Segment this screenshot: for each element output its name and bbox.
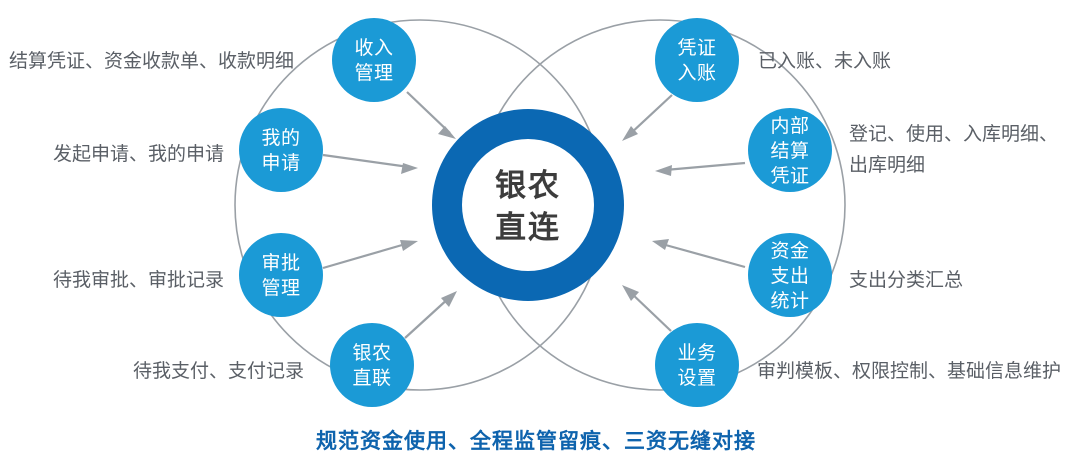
arrow-fund-expenditure <box>652 239 745 267</box>
node-circle-voucher-booking[interactable] <box>655 18 739 102</box>
arrow-head-approval <box>400 240 418 251</box>
node-fund-expenditure-statistics[interactable]: 资金 支出 统计 <box>748 233 832 317</box>
node-label-fund-expenditure-line2: 支出 <box>770 265 809 287</box>
center-hub: 银农 直连 <box>432 109 624 301</box>
center-title-line2: 直连 <box>495 210 561 245</box>
node-label-bank-village-direct-line1: 银农 <box>352 342 391 364</box>
diagram-canvas: 银农 直连 <box>0 0 1072 471</box>
description-internal-settlement-line1: 登记、使用、入库明细、 <box>849 123 1058 145</box>
node-circle-income-management[interactable] <box>332 18 416 102</box>
arrow-head-internal-settlement <box>655 165 672 176</box>
arrow-voucher-booking <box>622 95 672 141</box>
node-business-settings[interactable]: 业务 设置 <box>655 323 739 407</box>
diagram-caption: 规范资金使用、全程监管留痕、三资无缝对接 <box>316 429 756 453</box>
node-approval-management[interactable]: 审批 管理 <box>239 233 323 317</box>
node-label-voucher-booking-line1: 凭证 <box>677 37 716 59</box>
arrow-my-application <box>323 155 418 174</box>
description-my-application: 发起申请、我的申请 <box>53 143 224 165</box>
arrow-head-income <box>438 126 456 139</box>
node-label-approval-management-line2: 管理 <box>261 277 300 299</box>
node-label-income-management-line2: 管理 <box>354 62 393 84</box>
node-label-fund-expenditure-line3: 统计 <box>770 290 809 312</box>
node-voucher-booking[interactable]: 凭证 入账 <box>655 18 739 102</box>
node-internal-settlement-voucher[interactable]: 内部 结算 凭证 <box>748 108 832 192</box>
node-circle-bank-village-direct[interactable] <box>330 323 414 407</box>
description-income-management: 结算凭证、资金收款单、收款明细 <box>9 50 294 72</box>
node-label-bank-village-direct-line2: 直联 <box>352 367 391 389</box>
node-circle-approval-management[interactable] <box>239 233 323 317</box>
node-label-business-settings-line1: 业务 <box>677 342 716 364</box>
arrow-head-bank-direct <box>441 291 457 307</box>
node-label-voucher-booking-line2: 入账 <box>677 62 716 84</box>
diagram-root: 银农 直连 <box>0 0 1072 471</box>
node-label-fund-expenditure-line1: 资金 <box>770 240 809 262</box>
node-income-management[interactable]: 收入 管理 <box>332 18 416 102</box>
arrow-internal-settlement <box>655 163 745 176</box>
node-circle-business-settings[interactable] <box>655 323 739 407</box>
description-approval-management: 待我审批、审批记录 <box>53 269 224 291</box>
arrow-head-fund-expenditure <box>652 239 669 250</box>
description-fund-expenditure: 支出分类汇总 <box>849 269 963 291</box>
description-voucher-booking: 已入账、未入账 <box>758 50 891 72</box>
arrow-bank-village-direct <box>405 291 457 338</box>
node-label-internal-settlement-line1: 内部 <box>770 115 809 137</box>
node-label-income-management-line1: 收入 <box>354 37 393 59</box>
center-ring-inner <box>462 139 594 271</box>
node-label-internal-settlement-line2: 结算 <box>770 140 809 162</box>
node-label-approval-management-line1: 审批 <box>261 252 300 274</box>
arrow-business-settings <box>622 285 671 331</box>
arrow-income-management <box>407 92 456 139</box>
node-circle-my-application[interactable] <box>239 108 323 192</box>
description-internal-settlement-line2: 出库明细 <box>849 154 925 176</box>
description-bank-village-direct: 待我支付、支付记录 <box>133 360 304 382</box>
node-label-business-settings-line2: 设置 <box>677 367 716 389</box>
arrow-head-my-application <box>401 163 418 174</box>
arrow-approval-management <box>323 240 418 268</box>
node-bank-village-direct[interactable]: 银农 直联 <box>330 323 414 407</box>
node-label-internal-settlement-line3: 凭证 <box>770 165 809 187</box>
node-label-my-application-line1: 我的 <box>261 127 300 149</box>
node-label-my-application-line2: 申请 <box>261 152 300 174</box>
node-my-application[interactable]: 我的 申请 <box>239 108 323 192</box>
center-title-line1: 银农 <box>495 168 561 203</box>
description-business-settings: 审判模板、权限控制、基础信息维护 <box>757 360 1061 382</box>
